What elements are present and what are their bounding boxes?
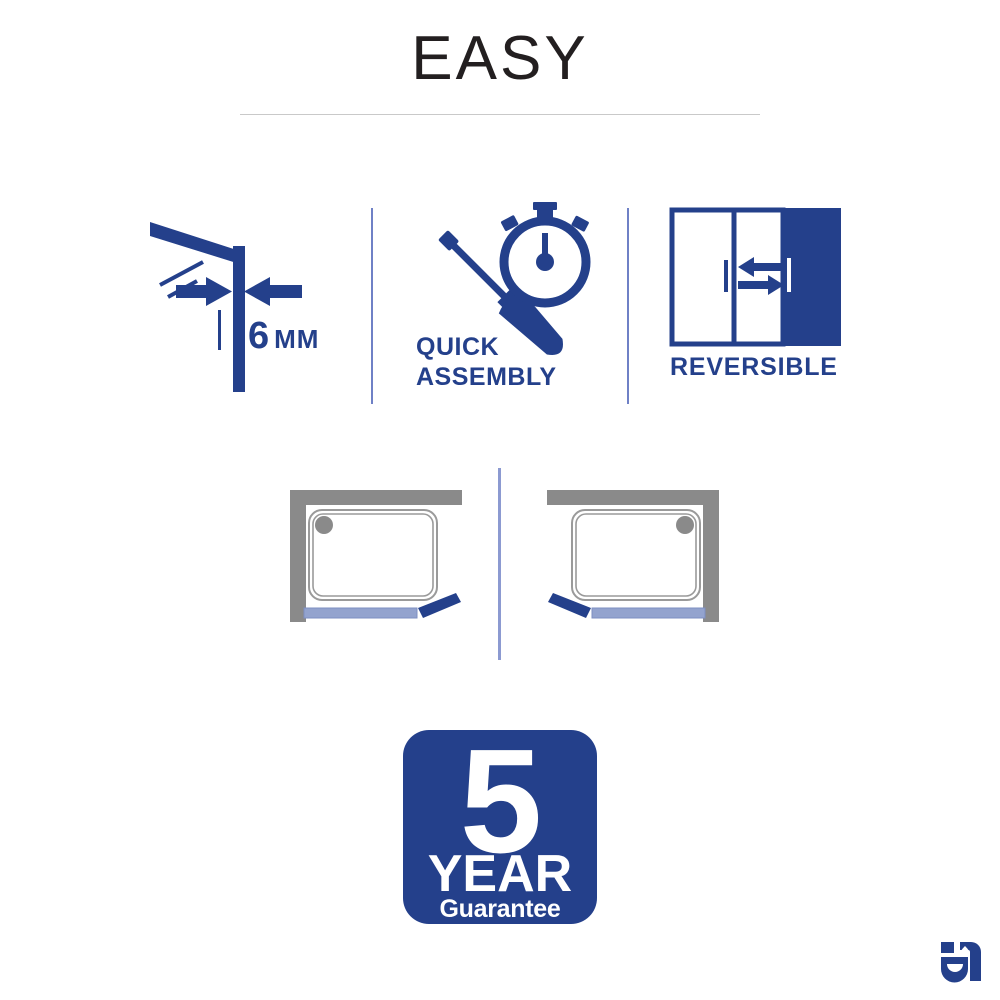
shower-tray-plan-right-icon xyxy=(527,468,727,643)
brand-monogram-logo xyxy=(938,938,984,984)
title-divider xyxy=(240,114,760,115)
shower-tray-plan-left-icon xyxy=(282,468,482,643)
wall-vertical xyxy=(290,490,306,622)
reversible-doors-icon xyxy=(648,200,860,350)
fixed-panel xyxy=(592,608,705,618)
tray-diagram-left xyxy=(282,468,482,648)
tray-diagram-row xyxy=(0,468,1000,663)
feature-glass-thickness: 6MM xyxy=(140,200,370,410)
feature-row: 6MM xyxy=(0,200,1000,410)
wall-vertical xyxy=(703,490,719,622)
page-title: EASY xyxy=(0,22,1000,96)
title-block: EASY xyxy=(0,22,1000,115)
reversible-label: REVERSIBLE xyxy=(670,353,838,382)
feature-divider-2 xyxy=(627,208,629,404)
quick-assembly-label: QUICK ASSEMBLY xyxy=(416,332,557,392)
feature-divider-1 xyxy=(371,208,373,404)
guarantee-badge-wrap: 5 YEAR Guarantee xyxy=(0,730,1000,929)
glass-thickness-label: 6MM xyxy=(248,315,319,358)
tray-divider xyxy=(498,468,501,660)
glass-panel-icon xyxy=(140,200,370,400)
wall-horizontal xyxy=(290,490,462,505)
wall-horizontal xyxy=(547,490,719,505)
stopwatch-icon xyxy=(500,202,589,303)
fixed-panel xyxy=(304,608,417,618)
feature-quick-assembly: QUICK ASSEMBLY xyxy=(392,200,624,410)
tray-diagram-right xyxy=(527,468,727,648)
quick-assembly-line-2: ASSEMBLY xyxy=(416,362,557,392)
glass-thickness-unit: MM xyxy=(274,324,319,354)
quick-assembly-line-1: QUICK xyxy=(416,332,557,362)
infographic-page: EASY 6MM xyxy=(0,0,1000,1000)
feature-reversible: REVERSIBLE xyxy=(648,200,860,410)
guarantee-period: YEAR xyxy=(403,846,597,902)
drain-circle xyxy=(676,516,694,534)
guarantee-caption: Guarantee xyxy=(403,896,597,922)
drain-circle xyxy=(315,516,333,534)
guarantee-badge: 5 YEAR Guarantee xyxy=(403,730,597,924)
glass-thickness-value: 6 xyxy=(248,315,269,357)
